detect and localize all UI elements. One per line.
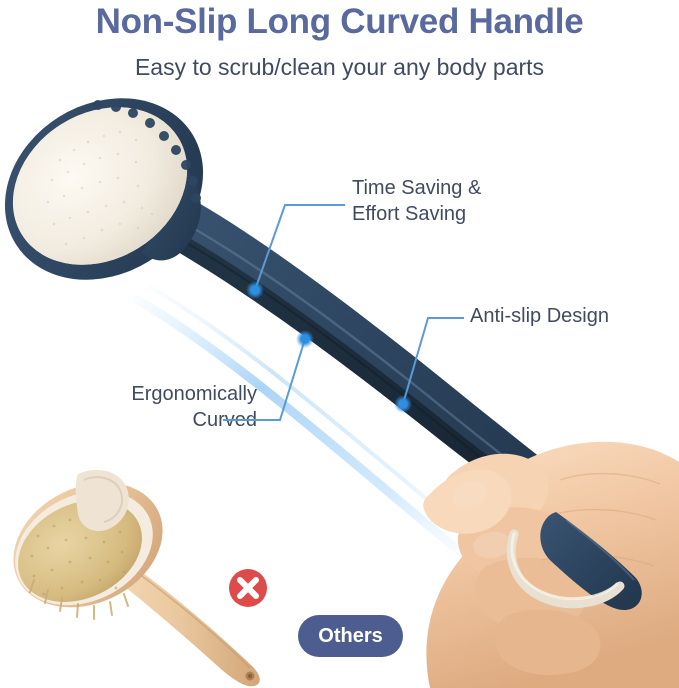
hand-gripping-handle [423, 442, 679, 688]
others-badge: Others [298, 615, 403, 657]
navy-brush-head [0, 62, 237, 316]
product-artwork [0, 0, 679, 688]
cross-circle-icon [228, 568, 268, 608]
product-infographic: Non-Slip Long Curved Handle Easy to scru… [0, 0, 679, 688]
wooden-brush [0, 459, 260, 687]
others-badge-label: Others [318, 625, 382, 648]
